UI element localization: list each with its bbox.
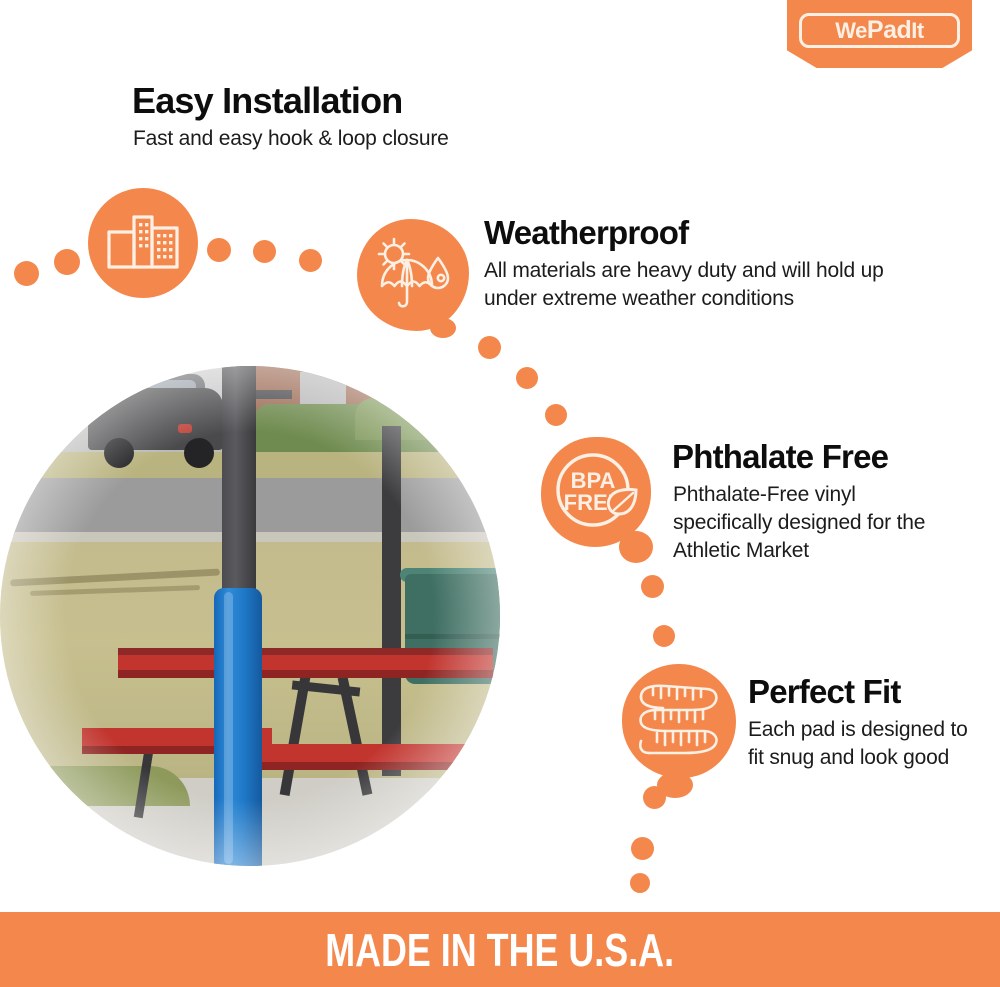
brand-logo-pad: Pad: [867, 18, 911, 43]
brand-logo-it: It: [911, 20, 923, 42]
brand-logo-we: We: [835, 20, 867, 42]
made-in-usa-text: MADE IN THE U.S.A.: [326, 923, 675, 977]
trail-dot: [253, 240, 276, 263]
trail-dot: [14, 261, 39, 286]
buildings-installation-icon: [88, 188, 198, 298]
trail-dot: [478, 336, 501, 359]
trail-dot: [545, 404, 567, 426]
brand-logo-plate: WePadIt: [799, 13, 960, 48]
trail-dot: [643, 786, 666, 809]
feature-description-weatherproof: All materials are heavy duty and will ho…: [484, 257, 914, 313]
feature-title-weatherproof: Weatherproof: [484, 214, 688, 252]
icon-blob-tail-weatherproof: [430, 318, 456, 338]
measuring-tape-icon: [622, 664, 736, 778]
trail-dot: [631, 837, 654, 860]
trail-dot: [299, 249, 322, 272]
trail-dot: [54, 249, 80, 275]
trail-dot: [516, 367, 538, 389]
feature-description-perfect-fit: Each pad is designed to fit snug and loo…: [748, 716, 983, 772]
brand-logo-banner: WePadIt: [787, 0, 972, 68]
infographic-page: WePadIt Easy Installation Fast and easy …: [0, 0, 1000, 987]
feature-description-easy-installation: Fast and easy hook & loop closure: [133, 125, 553, 153]
brand-logo-text: WePadIt: [835, 18, 923, 43]
sun-umbrella-raindrop-icon: [357, 219, 469, 331]
feature-title-phthalate-free: Phthalate Free: [672, 438, 888, 476]
icon-blob-tail-phthalate-free: [619, 531, 653, 563]
trail-dot: [641, 575, 664, 598]
trail-dot: [653, 625, 675, 647]
feature-description-phthalate-free: Phthalate-Free vinyl specifically design…: [673, 481, 943, 565]
feature-title-easy-installation: Easy Installation: [132, 80, 403, 122]
trail-dot: [207, 238, 231, 262]
made-in-usa-banner: MADE IN THE U.S.A.: [0, 912, 1000, 987]
product-photo: [0, 366, 500, 866]
trail-dot: [630, 873, 650, 893]
feature-title-perfect-fit: Perfect Fit: [748, 673, 901, 711]
